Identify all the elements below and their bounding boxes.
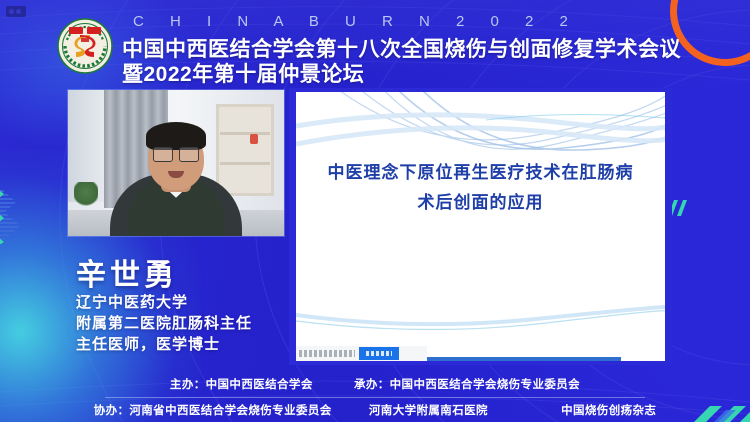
slide-taskbar[interactable] — [296, 346, 427, 361]
speaker-video-feed[interactable] — [68, 90, 284, 236]
speaker-affiliation-line1: 辽宁中医药大学 — [76, 291, 188, 312]
conference-emblem-icon — [57, 18, 113, 74]
slide-title-line1: 中医理念下原位再生医疗技术在肛肠病 — [316, 158, 645, 188]
speaker-affiliation-line3: 主任医师，医学博士 — [76, 333, 220, 354]
conference-title-line2: 暨2022年第十届仲景论坛 — [122, 58, 364, 88]
slide-bottom-wave — [296, 297, 665, 341]
footer-row-secondary: 协办：河南省中西医结合学会烧伤专业委员会 河南大学附属南石医院 中国烧伤创疡杂志 — [0, 402, 750, 418]
footer-partner-hospital: 河南大学附属南石医院 — [369, 402, 488, 418]
speaker-portrait — [110, 132, 242, 236]
footer: 主办：中国中西医结合学会 承办：中国中西医结合学会烧伤专业委员会 协办：河南省中… — [0, 372, 750, 422]
footer-coorganizer: 协办：河南省中西医结合学会烧伤专业委员会 — [94, 402, 332, 418]
footer-divider — [105, 397, 645, 398]
slide-attribution-badge: 辽宁中医药大学附属第二医院辛世勇 — [419, 357, 621, 361]
teal-chevrons-left-icon — [0, 182, 52, 248]
event-eyebrow-text: C H I N A B U R N 2 0 2 2 — [133, 13, 579, 30]
broadcast-stage: C H I N A B U R N 2 0 2 2 中国中西医结合学会第十八次全… — [0, 0, 750, 422]
taskbar-label — [299, 350, 355, 357]
taskbar-button[interactable] — [359, 347, 399, 360]
speaker-affiliation-line2: 附属第二医院肛肠科主任 — [76, 312, 252, 333]
presentation-slide[interactable]: 中医理念下原位再生医疗技术在肛肠病 术后创面的应用 辽宁中医药大学附属第二医院辛… — [296, 92, 665, 361]
footer-host: 主办：中国中西医结合学会 — [170, 376, 313, 392]
shelf-ornament — [250, 134, 258, 144]
video-background — [68, 90, 284, 236]
eyeglasses-icon — [153, 147, 199, 160]
footer-row-primary: 主办：中国中西医结合学会 承办：中国中西医结合学会烧伤专业委员会 — [0, 376, 750, 392]
footer-partner-journal: 中国烧伤创疡杂志 — [561, 402, 656, 418]
room-plant — [74, 182, 98, 208]
footer-organizer: 承办：中国中西医结合学会烧伤专业委员会 — [354, 376, 580, 392]
slide-title-line2: 术后创面的应用 — [316, 188, 645, 218]
speaker-name: 辛世勇 — [76, 250, 178, 294]
corner-marker-icon — [6, 6, 26, 17]
slide-title: 中医理念下原位再生医疗技术在肛肠病 术后创面的应用 — [316, 158, 645, 218]
